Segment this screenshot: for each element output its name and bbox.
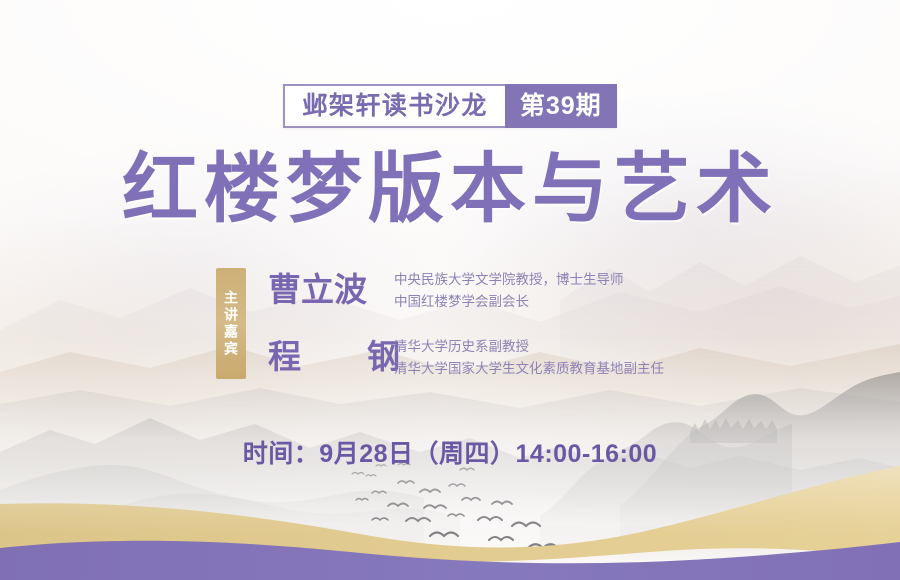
- poster-canvas: 邺架轩读书沙龙 第39期 红楼梦版本与艺术 主讲嘉宾 曹立波 中央民族大学文学院…: [0, 0, 900, 580]
- speaker-credentials: 中央民族大学文学院教授，博士生导师 中国红楼梦学会副会长: [394, 268, 624, 313]
- speaker-credentials: 清华大学历史系副教授 清华大学国家大学生文化素质教育基地副主任: [394, 335, 664, 380]
- issue-number-badge: 第39期: [505, 84, 617, 128]
- speaker-list: 曹立波 中央民族大学文学院教授，博士生导师 中国红楼梦学会副会长 程 钢 清华大…: [268, 268, 664, 379]
- guest-speakers-vertical-label: 主讲嘉宾: [216, 268, 246, 379]
- speaker-credential-line: 清华大学历史系副教授: [394, 336, 664, 358]
- speaker-credential-line: 中国红楼梦学会副会长: [394, 291, 624, 313]
- page-title: 红楼梦版本与艺术: [0, 148, 900, 232]
- schedule-value: 9月28日（周四）14:00-16:00: [319, 440, 657, 468]
- speaker-entry: 曹立波 中央民族大学文学院教授，博士生导师 中国红楼梦学会副会长: [268, 268, 664, 313]
- series-badge: 邺架轩读书沙龙 第39期: [283, 84, 616, 128]
- speaker-name: 程 钢: [268, 338, 394, 376]
- series-name-label: 邺架轩读书沙龙: [283, 84, 505, 128]
- speaker-entry: 程 钢 清华大学历史系副教授 清华大学国家大学生文化素质教育基地副主任: [268, 335, 664, 380]
- schedule-label: 时间：: [243, 440, 320, 468]
- speaker-credential-line: 中央民族大学文学院教授，博士生导师: [394, 269, 624, 291]
- speaker-credential-line: 清华大学国家大学生文化素质教育基地副主任: [394, 358, 664, 380]
- speakers-section: 主讲嘉宾 曹立波 中央民族大学文学院教授，博士生导师 中国红楼梦学会副会长 程 …: [216, 268, 664, 379]
- header-badge-row: 邺架轩读书沙龙 第39期: [0, 84, 900, 128]
- schedule-line: 时间：9月28日（周四）14:00-16:00: [0, 434, 900, 470]
- speaker-name: 曹立波: [268, 271, 394, 309]
